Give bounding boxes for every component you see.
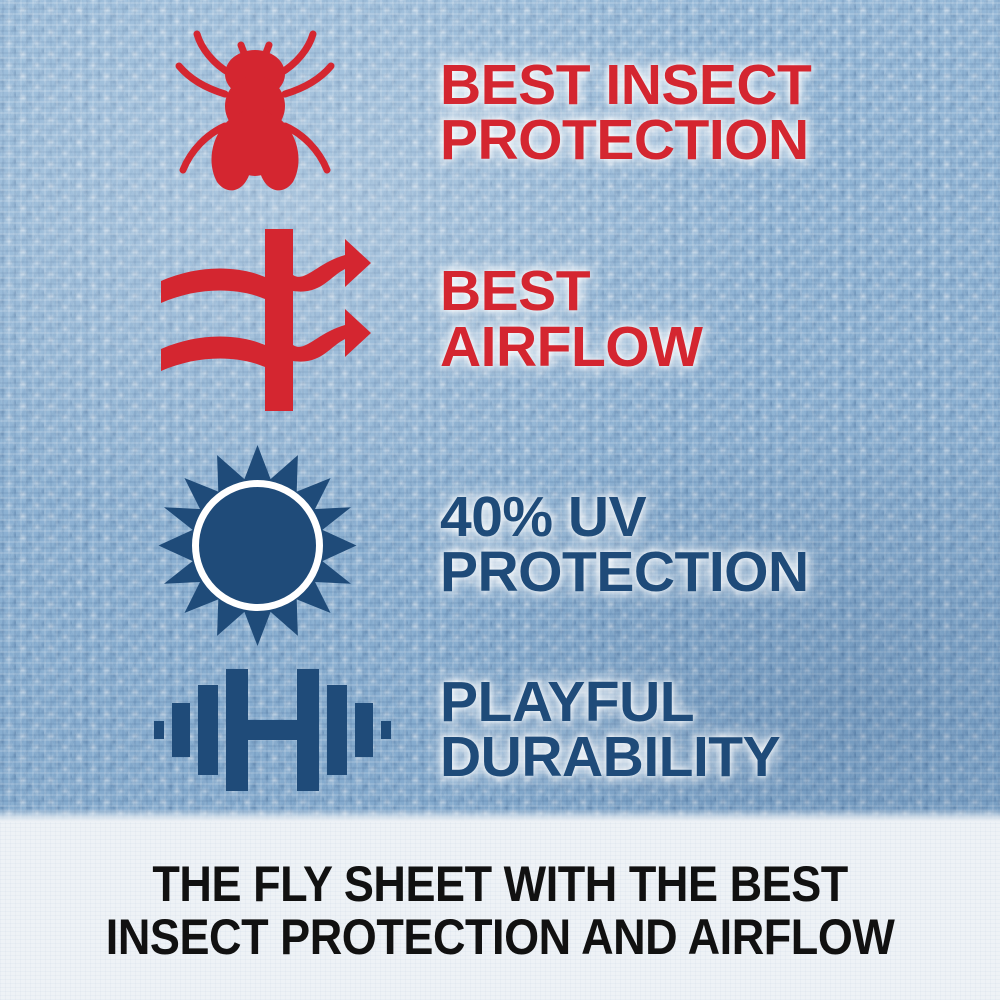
- feature-list: BEST INSECT PROTECTION: [0, 0, 1000, 822]
- feature-label-insect-protection: BEST INSECT PROTECTION: [440, 58, 980, 169]
- airflow-through-barrier-icon: [150, 225, 380, 415]
- feature-label-airflow: BEST AIRFLOW: [440, 264, 980, 375]
- caption-bar: THE FLY SHEET WITH THE BEST INSECT PROTE…: [0, 822, 1000, 1000]
- feature-label-uv-protection: 40% UV PROTECTION: [440, 490, 980, 601]
- infographic-page: BEST INSECT PROTECTION: [0, 0, 1000, 1000]
- dumbbell-icon: [150, 655, 395, 805]
- caption-headline: THE FLY SHEET WITH THE BEST INSECT PROTE…: [106, 858, 895, 964]
- feature-label-durability: PLAYFUL DURABILITY: [440, 675, 980, 786]
- feature-row-insect-protection: BEST INSECT PROTECTION: [150, 18, 980, 208]
- sun-uv-icon: [150, 443, 365, 648]
- feature-row-durability: PLAYFUL DURABILITY: [150, 650, 980, 810]
- feature-row-airflow: BEST AIRFLOW: [150, 222, 980, 417]
- feature-row-uv-protection: 40% UV PROTECTION: [150, 440, 980, 650]
- fly-icon: [150, 18, 360, 208]
